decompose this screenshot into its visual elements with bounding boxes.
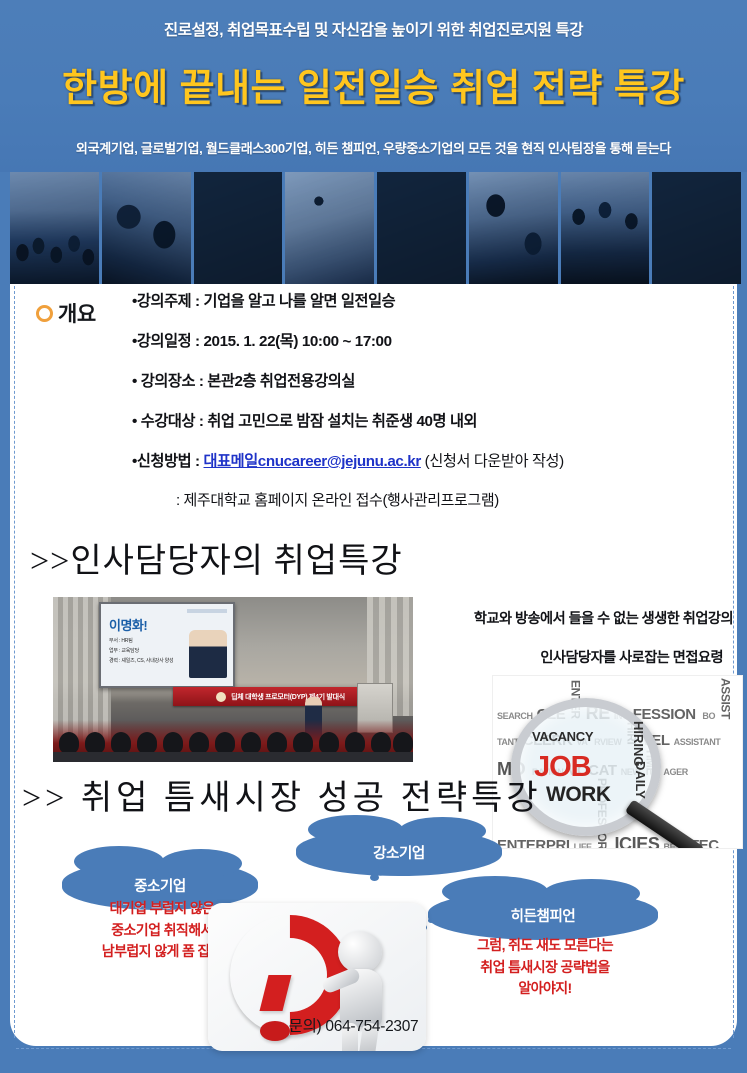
strip-photo: [194, 172, 283, 284]
section1-bullet: 학교와 방송에서 들을 수 없는 생생한 취업강의: [403, 608, 733, 628]
dashed-rule-right: [733, 286, 734, 1038]
outline-label: 개요: [36, 298, 96, 328]
bubble-tail-dot: [206, 890, 212, 895]
screen-line: 부서 : HR팀: [109, 637, 133, 644]
detail-separator: :: [191, 333, 203, 350]
detail-apply-tail: (신청서 다운받아 작성): [421, 453, 564, 470]
section-heading-2: >> 취업 틈새시장 성공 전략특강: [22, 770, 542, 819]
red-text-right: 그럼, 쥐도 새도 모른다는 취업 틈새시장 공략법을 알아야지!: [430, 935, 660, 1000]
lens-word-job: JOB: [534, 751, 591, 784]
presentation-screen: 이명화! 부서 : HR팀 업무 : 교육담당 경력 : 셰일즈, CS, 사내…: [99, 602, 235, 688]
job-magnifier-graphic: SEARCHCLEENTERREINGFESSION BOASSISTTANTC…: [492, 675, 743, 849]
stage-banner: 딥체 대학생 프로모터(DYP) 제4기 발대식: [173, 687, 388, 706]
red-line: 그럼, 쥐도 새도 모른다는: [430, 935, 660, 957]
detail-value: 기업을 알고 나를 알면 일전일승: [204, 293, 396, 310]
photo-strip: [10, 172, 741, 284]
banner-text: 딥체 대학생 프로모터(DYP) 제4기 발대식: [231, 692, 345, 702]
strip-photo: [469, 172, 558, 284]
screen-portrait: [189, 630, 227, 678]
screen-line: 업무 : 교육담당: [109, 647, 139, 654]
section1-bullet: 인사담당자를 사로잡는 면접요령: [403, 647, 733, 667]
lens-word-daily: DAILY: [633, 761, 648, 799]
poster-root: 진로설정, 취업목표수립 및 자신감을 높이기 위한 취업진로지원 특강 한방에…: [0, 0, 747, 1073]
strip-photo: [377, 172, 466, 284]
detail-label: 수강대상: [137, 413, 195, 430]
screen-line: 경력 : 셰일즈, CS, 사내강사 양성: [109, 657, 173, 664]
detail-row: •강의일정 : 2015. 1. 22(목) 10:00 ~ 17:00: [132, 332, 732, 351]
lecture-hall-photo: 이명화! 부서 : HR팀 업무 : 교육담당 경력 : 셰일즈, CS, 사내…: [53, 597, 413, 762]
email-link[interactable]: 대표메일cnucareer@jejunu.ac.kr: [204, 453, 421, 470]
detail-separator: :: [195, 373, 207, 390]
detail-label: 신청방법: [137, 453, 191, 470]
detail-row: •강의주제 : 기업을 알고 나를 알면 일전일승: [132, 292, 732, 311]
detail-value: 2015. 1. 22(목) 10:00 ~ 17:00: [204, 333, 392, 350]
strip-photo: [561, 172, 650, 284]
speech-bubble: 강소기업: [296, 828, 502, 876]
red-line: 취업 틈새시장 공략법을: [430, 957, 660, 979]
detail-label: 강의주제: [137, 293, 191, 310]
red-line: 알아야지!: [430, 978, 660, 1000]
lens-word-vacancy: VACANCY: [532, 729, 593, 744]
bubble-tail-dot: [378, 864, 384, 869]
header-subline: 외국계기업, 글로벌기업, 월드클래스300기업, 히든 챔피언, 우량중소기업…: [0, 138, 747, 157]
detail-value: 본관2층 취업전용강의실: [207, 373, 355, 390]
detail-label: 강의장소: [137, 373, 195, 390]
orange-ring-icon: [36, 305, 53, 322]
bubble-tail-dot: [370, 874, 379, 881]
strip-photo: [102, 172, 191, 284]
strip-photo: [10, 172, 99, 284]
strip-photo: [652, 172, 741, 284]
detail-separator: :: [195, 413, 207, 430]
detail-row: • 수강대상 : 취업 고민으로 밤잠 설치는 취준생 40명 내외: [132, 412, 732, 431]
detail-row: • 강의장소 : 본관2층 취업전용강의실: [132, 372, 732, 391]
speech-bubble: 히든챔피언: [428, 890, 658, 940]
lens-word-work: WORK: [546, 783, 611, 807]
contact-info: 문의) 064-754-2307: [0, 1014, 747, 1036]
header-eyebrow: 진로설정, 취업목표수립 및 자신감을 높이기 위한 취업진로지원 특강: [0, 18, 747, 40]
strip-photo: [285, 172, 374, 284]
section-heading-1: >>인사담당자의 취업특강: [30, 533, 403, 582]
screen-speaker-name: 이명화!: [109, 615, 147, 634]
bubble-tail-dot: [428, 918, 434, 923]
detail-row-apply-second: : 제주대학교 홈페이지 온라인 접수(행사관리프로그램): [132, 492, 732, 511]
outline-details: •강의주제 : 기업을 알고 나를 알면 일전일승 •강의일정 : 2015. …: [132, 292, 732, 532]
poster-header: 진로설정, 취업목표수립 및 자신감을 높이기 위한 취업진로지원 특강 한방에…: [0, 0, 747, 172]
detail-row-apply: •신청방법 : 대표메일cnucareer@jejunu.ac.kr (신청서 …: [132, 452, 732, 471]
detail-value: 취업 고민으로 밤잠 설치는 취준생 40명 내외: [207, 413, 477, 430]
page-title: 한방에 끝내는 일전일승 취업 전략 특강: [0, 57, 747, 112]
detail-separator: :: [191, 453, 203, 470]
outline-label-text: 개요: [58, 298, 96, 328]
detail-separator: :: [191, 293, 203, 310]
dashed-rule-left: [14, 286, 15, 1038]
banner-logo-icon: [216, 692, 226, 702]
lens-word-hiring: HIRING: [631, 721, 646, 767]
detail-label: 강의일정: [137, 333, 191, 350]
